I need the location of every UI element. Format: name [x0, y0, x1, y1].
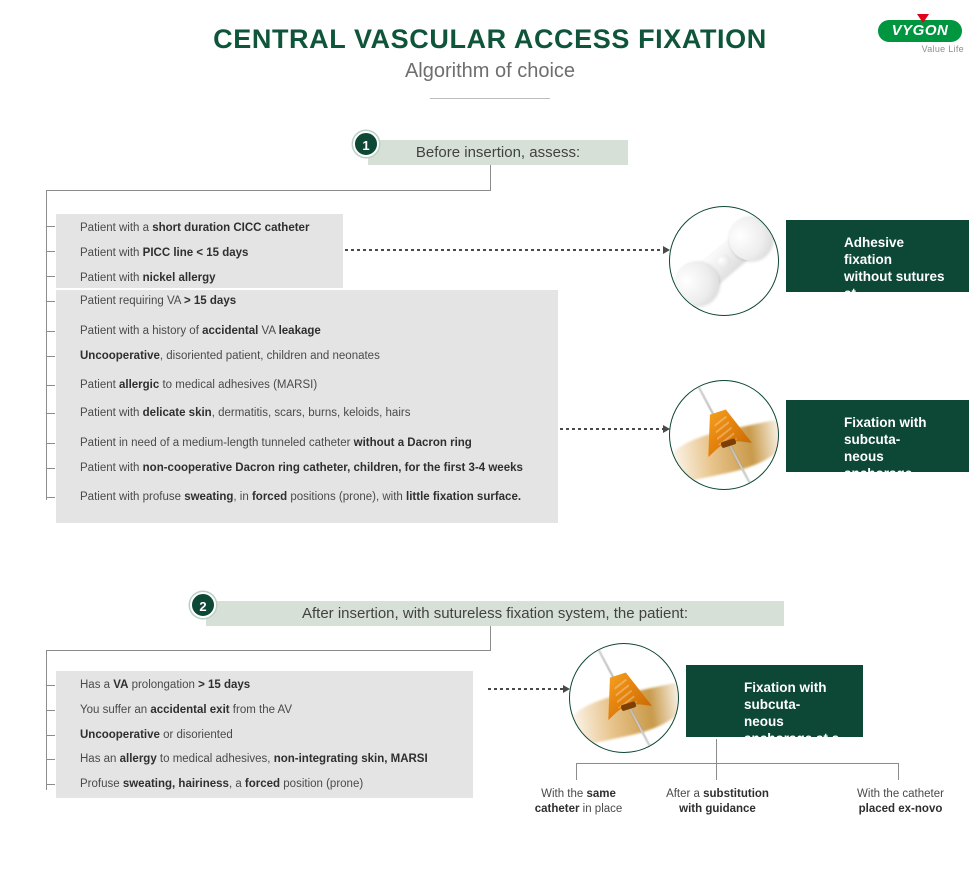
bracket-tick — [46, 301, 55, 302]
criteria-item: Patient with profuse sweating, in forced… — [80, 490, 521, 504]
suboption-line-1: With the same — [506, 787, 651, 802]
bracket-tick — [46, 331, 55, 332]
suboption-ex-novo: With the catheter placed ex-novo — [828, 787, 973, 817]
bracket-tick — [46, 468, 55, 469]
step-2-badge: 2 — [190, 592, 216, 618]
outcome-line: Fixation with subcuta- — [844, 414, 955, 448]
bracket-tick — [46, 385, 55, 386]
suboption-substitution: After a substitution with guidance — [645, 787, 790, 817]
suboption-crossbar — [576, 763, 898, 764]
outcome-line: Fixation with subcuta- — [744, 679, 849, 713]
logo-badge: VYGON — [878, 20, 962, 42]
step2-bracket-spine — [46, 650, 47, 790]
criteria-group-adhesive: Patient with a short duration CICC cathe… — [56, 214, 343, 288]
outcome-line: neous anchorage at a — [744, 713, 849, 747]
criteria-item: Uncooperative or disoriented — [80, 728, 233, 742]
suboption-line-2: placed ex-novo — [828, 802, 973, 817]
criteria-item: Patient with delicate skin, dermatitis, … — [80, 406, 410, 420]
step2-connector-horizontal — [46, 650, 491, 651]
step-1-label: Before insertion, assess: — [368, 140, 628, 165]
outcome-line: Adhesive fixation — [844, 234, 955, 268]
outcome-adhesive: Adhesive fixation without sutures at ins… — [669, 206, 969, 292]
criteria-item: Patient allergic to medical adhesives (M… — [80, 378, 317, 392]
bracket-tick — [46, 356, 55, 357]
step1-connector-vertical — [490, 165, 491, 190]
outcome-subcutaneous-box: Fixation with subcuta- neous anchorage a… — [786, 400, 969, 472]
step1-bracket-spine — [46, 190, 47, 500]
subcutaneous-anchor-icon — [669, 380, 779, 490]
criteria-item: You suffer an accidental exit from the A… — [80, 703, 292, 717]
outcome-line: at the insertion — [844, 482, 955, 499]
criteria-item: Patient requiring VA > 15 days — [80, 294, 236, 308]
step-1-badge: 1 — [353, 131, 379, 157]
criteria-item: Has a VA prolongation > 15 days — [80, 678, 250, 692]
suboption-stem — [716, 739, 717, 763]
bracket-tick — [46, 784, 55, 785]
criteria-item: Patient with a short duration CICC cathe… — [80, 221, 309, 235]
arrow-to-later-outcome — [488, 688, 565, 690]
logo-brand-text: VYGON — [892, 22, 949, 39]
suboption-line-1: With the catheter — [828, 787, 973, 802]
criteria-item: Patient with a history of accidental VA … — [80, 324, 321, 338]
criteria-item: Patient with non-cooperative Dacron ring… — [80, 461, 523, 475]
bracket-tick — [46, 413, 55, 414]
bracket-tick — [46, 276, 55, 277]
criteria-group-subcutaneous: Patient requiring VA > 15 days Patient w… — [56, 290, 558, 523]
criteria-item: Patient in need of a medium-length tunne… — [80, 436, 472, 450]
step-2-label: After insertion, with sutureless fixatio… — [206, 601, 784, 626]
bracket-tick — [46, 226, 55, 227]
bracket-tick — [46, 497, 55, 498]
logo-triangle-icon — [917, 14, 929, 23]
subcutaneous-anchor-icon — [569, 643, 679, 753]
arrow-to-subcutaneous-outcome — [560, 428, 665, 430]
criteria-item: Patient with PICC line < 15 days — [80, 246, 248, 260]
outcome-adhesive-box: Adhesive fixation without sutures at ins… — [786, 220, 969, 292]
criteria-item: Patient with nickel allergy — [80, 271, 216, 285]
bracket-tick — [46, 251, 55, 252]
suboption-line-2: catheter in place — [506, 802, 651, 817]
page-title: CENTRAL VASCULAR ACCESS FIXATION — [0, 24, 980, 55]
title-divider — [430, 98, 550, 99]
dressing-graphic — [687, 227, 760, 294]
infographic-page: CENTRAL VASCULAR ACCESS FIXATION Algorit… — [0, 0, 980, 884]
suboption-drop-center — [716, 763, 717, 780]
bracket-tick — [46, 735, 55, 736]
suboption-same-catheter: With the same catheter in place — [506, 787, 651, 817]
dressing-body — [687, 227, 760, 294]
outcome-line: insertion — [844, 302, 955, 319]
outcome-line: without sutures at — [844, 268, 955, 302]
step1-connector-horizontal — [46, 190, 491, 191]
logo-tagline: Value Life — [872, 44, 968, 54]
bracket-tick — [46, 443, 55, 444]
step2-connector-vertical — [490, 626, 491, 650]
outcome-subcutaneous-later: Fixation with subcuta- neous anchorage a… — [569, 643, 863, 739]
arrow-to-adhesive-outcome — [345, 249, 665, 251]
outcome-later-box: Fixation with subcuta- neous anchorage a… — [686, 665, 863, 737]
bracket-tick — [46, 685, 55, 686]
suboption-line-2: with guidance — [645, 802, 790, 817]
outcome-line: neous anchorage — [844, 448, 955, 482]
criteria-item: Has an allergy to medical adhesives, non… — [80, 752, 428, 766]
suboption-drop-left — [576, 763, 577, 780]
vygon-logo: VYGON Value Life — [872, 20, 968, 62]
bracket-tick — [46, 710, 55, 711]
dressing-center-dot — [715, 252, 733, 270]
criteria-item: Uncooperative, disoriented patient, chil… — [80, 349, 380, 363]
adhesive-dressing-icon — [669, 206, 779, 316]
bracket-tick — [46, 759, 55, 760]
outcome-line: later point in time — [744, 747, 849, 781]
outcome-subcutaneous-insertion: Fixation with subcuta- neous anchorage a… — [669, 380, 969, 476]
criteria-group-later: Has a VA prolongation > 15 days You suff… — [56, 671, 473, 798]
suboption-drop-right — [898, 763, 899, 780]
criteria-item: Profuse sweating, hairiness, a forced po… — [80, 777, 363, 791]
page-subtitle: Algorithm of choice — [0, 60, 980, 83]
suboption-line-1: After a substitution — [645, 787, 790, 802]
